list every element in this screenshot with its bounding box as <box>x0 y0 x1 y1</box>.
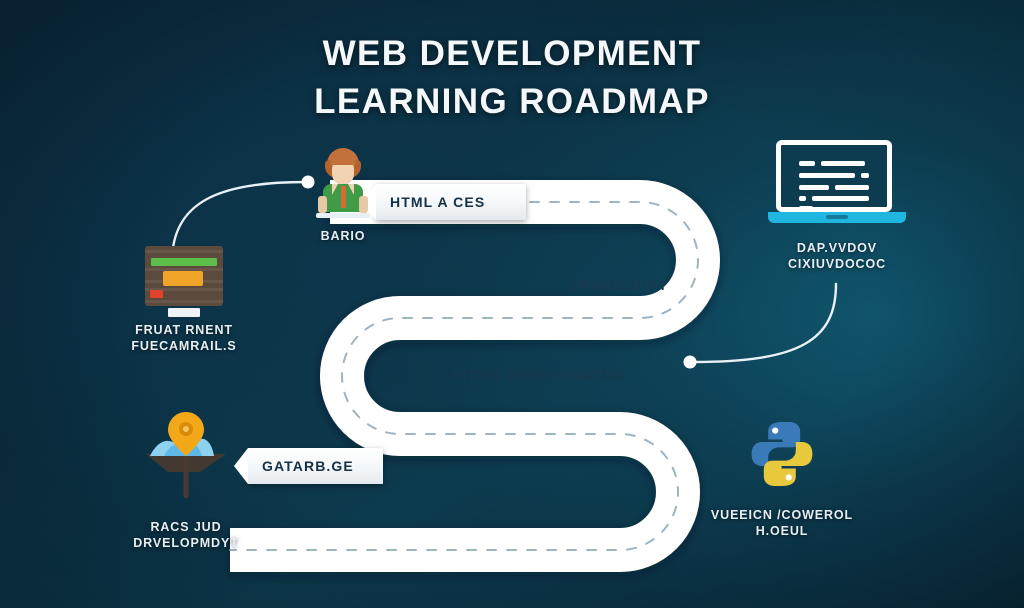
stage-label-frameworks[interactable]: VITMK JMRYKVNNTUU <box>452 367 625 383</box>
title-line-2: LEARNING ROADMAP <box>0 78 1024 126</box>
node-caption-line: DAP.VVDOV <box>788 240 886 256</box>
node-caption-dev-tools: DAP.VVDOV CIXIUVDOCOC <box>788 240 886 272</box>
node-dev-tools[interactable]: DAP.VVDOV CIXIUVDOCOC <box>752 140 922 272</box>
location-pin-mountain-icon <box>134 410 238 503</box>
stage-banner-database[interactable]: GATARB.GE <box>248 448 383 484</box>
node-caption-front-end: FRUAT RNENT FUECAMRAIL.S <box>131 322 236 354</box>
laptop-code-icon <box>768 140 906 226</box>
title-line-1: WEB DEVELOPMENT <box>0 30 1024 78</box>
node-caption-line: H.OEUL <box>711 523 853 539</box>
roadmap-infographic: WEB DEVELOPMENT LEARNING ROADMAP HTML A … <box>0 0 1024 608</box>
python-logo-icon <box>746 418 818 495</box>
node-python-control-model[interactable]: VUEEICN /COWEROL H.OEUL <box>692 418 872 539</box>
code-editor-window-icon <box>145 246 223 306</box>
node-caption-basics: BARIO <box>321 228 366 244</box>
node-caption-line: CIXIUVDOCOC <box>788 256 886 272</box>
node-back-end-development[interactable]: RACS JUD DRVELOPMDYT <box>106 410 266 551</box>
node-front-end-fundamentals[interactable]: FRUAT RNENT FUECAMRAIL.S <box>104 246 264 354</box>
node-basics[interactable]: BARIO <box>288 146 398 244</box>
node-caption-line: FRUAT RNENT <box>131 322 236 338</box>
stage-label-javascript[interactable]: JAVAECRIPY <box>570 277 668 293</box>
node-caption-line: RACS JUD <box>133 519 239 535</box>
page-title: WEB DEVELOPMENT LEARNING ROADMAP <box>0 30 1024 126</box>
node-caption-python: VUEEICN /COWEROL H.OEUL <box>711 507 853 539</box>
node-caption-line: VUEEICN /COWEROL <box>711 507 853 523</box>
node-caption-line: FUECAMRAIL.S <box>131 338 236 354</box>
person-avatar-icon <box>312 146 374 220</box>
node-caption-back-end: RACS JUD DRVELOPMDYT <box>133 519 239 551</box>
node-caption-line: DRVELOPMDYT <box>133 535 239 551</box>
node-caption-line: BARIO <box>321 228 366 244</box>
stage-banner-html-css[interactable]: HTML A CES <box>376 184 526 220</box>
